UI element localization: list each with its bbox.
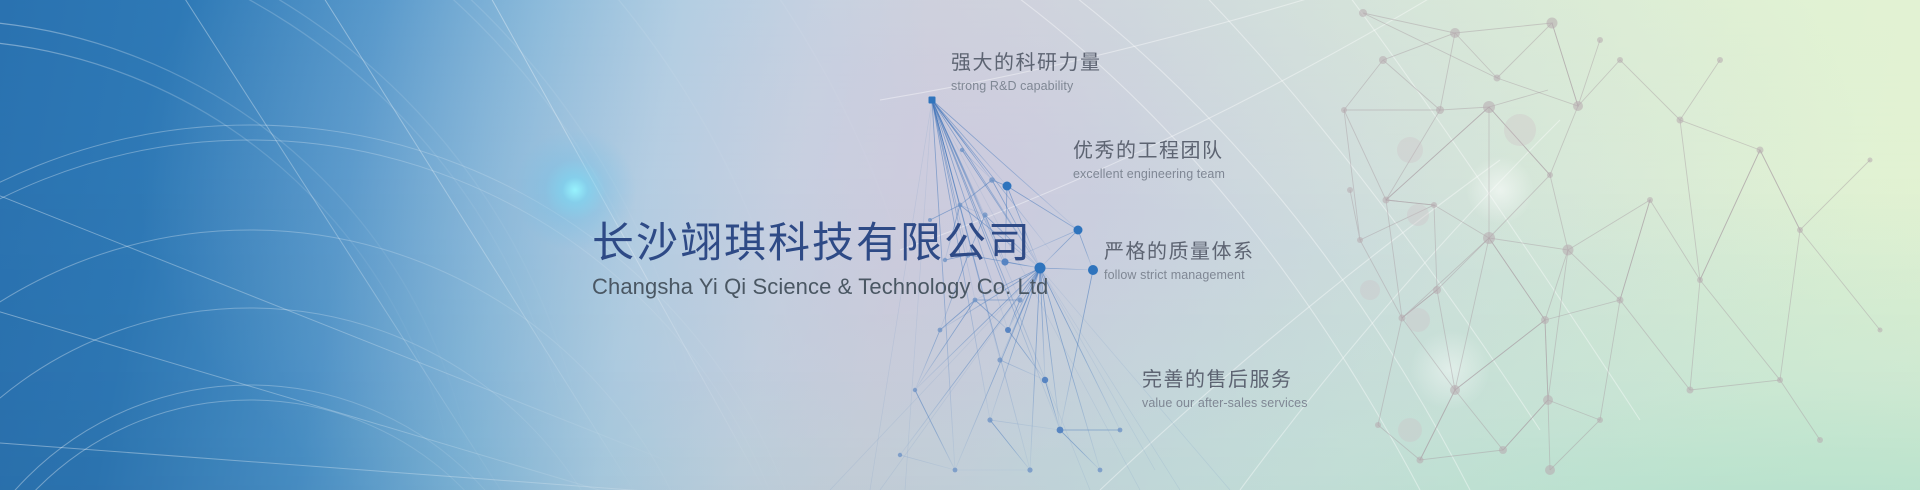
feature-rd-en: strong R&D capability: [951, 79, 1102, 93]
page-title-cn: 长沙翊琪科技有限公司: [592, 222, 1048, 267]
company-hero-banner: 长沙翊琪科技有限公司 Changsha Yi Qi Science & Tech…: [0, 0, 1920, 490]
feature-label-quality: 严格的质量体系 follow strict management: [1104, 240, 1255, 282]
feature-aftersales-en: value our after-sales services: [1142, 396, 1308, 410]
feature-label-aftersales: 完善的售后服务 value our after-sales services: [1142, 368, 1308, 410]
page-title-en: Changsha Yi Qi Science & Technology Co. …: [592, 274, 1048, 300]
feature-engineering-en: excellent engineering team: [1073, 167, 1225, 181]
feature-label-rd: 强大的科研力量 strong R&D capability: [951, 51, 1102, 93]
feature-engineering-cn: 优秀的工程团队: [1073, 139, 1225, 164]
feature-aftersales-cn: 完善的售后服务: [1142, 368, 1308, 393]
feature-quality-en: follow strict management: [1104, 268, 1255, 282]
feature-label-engineering: 优秀的工程团队 excellent engineering team: [1073, 139, 1225, 181]
feature-quality-cn: 严格的质量体系: [1104, 240, 1255, 265]
feature-rd-cn: 强大的科研力量: [951, 51, 1102, 76]
company-title-block: 长沙翊琪科技有限公司 Changsha Yi Qi Science & Tech…: [592, 222, 1048, 300]
